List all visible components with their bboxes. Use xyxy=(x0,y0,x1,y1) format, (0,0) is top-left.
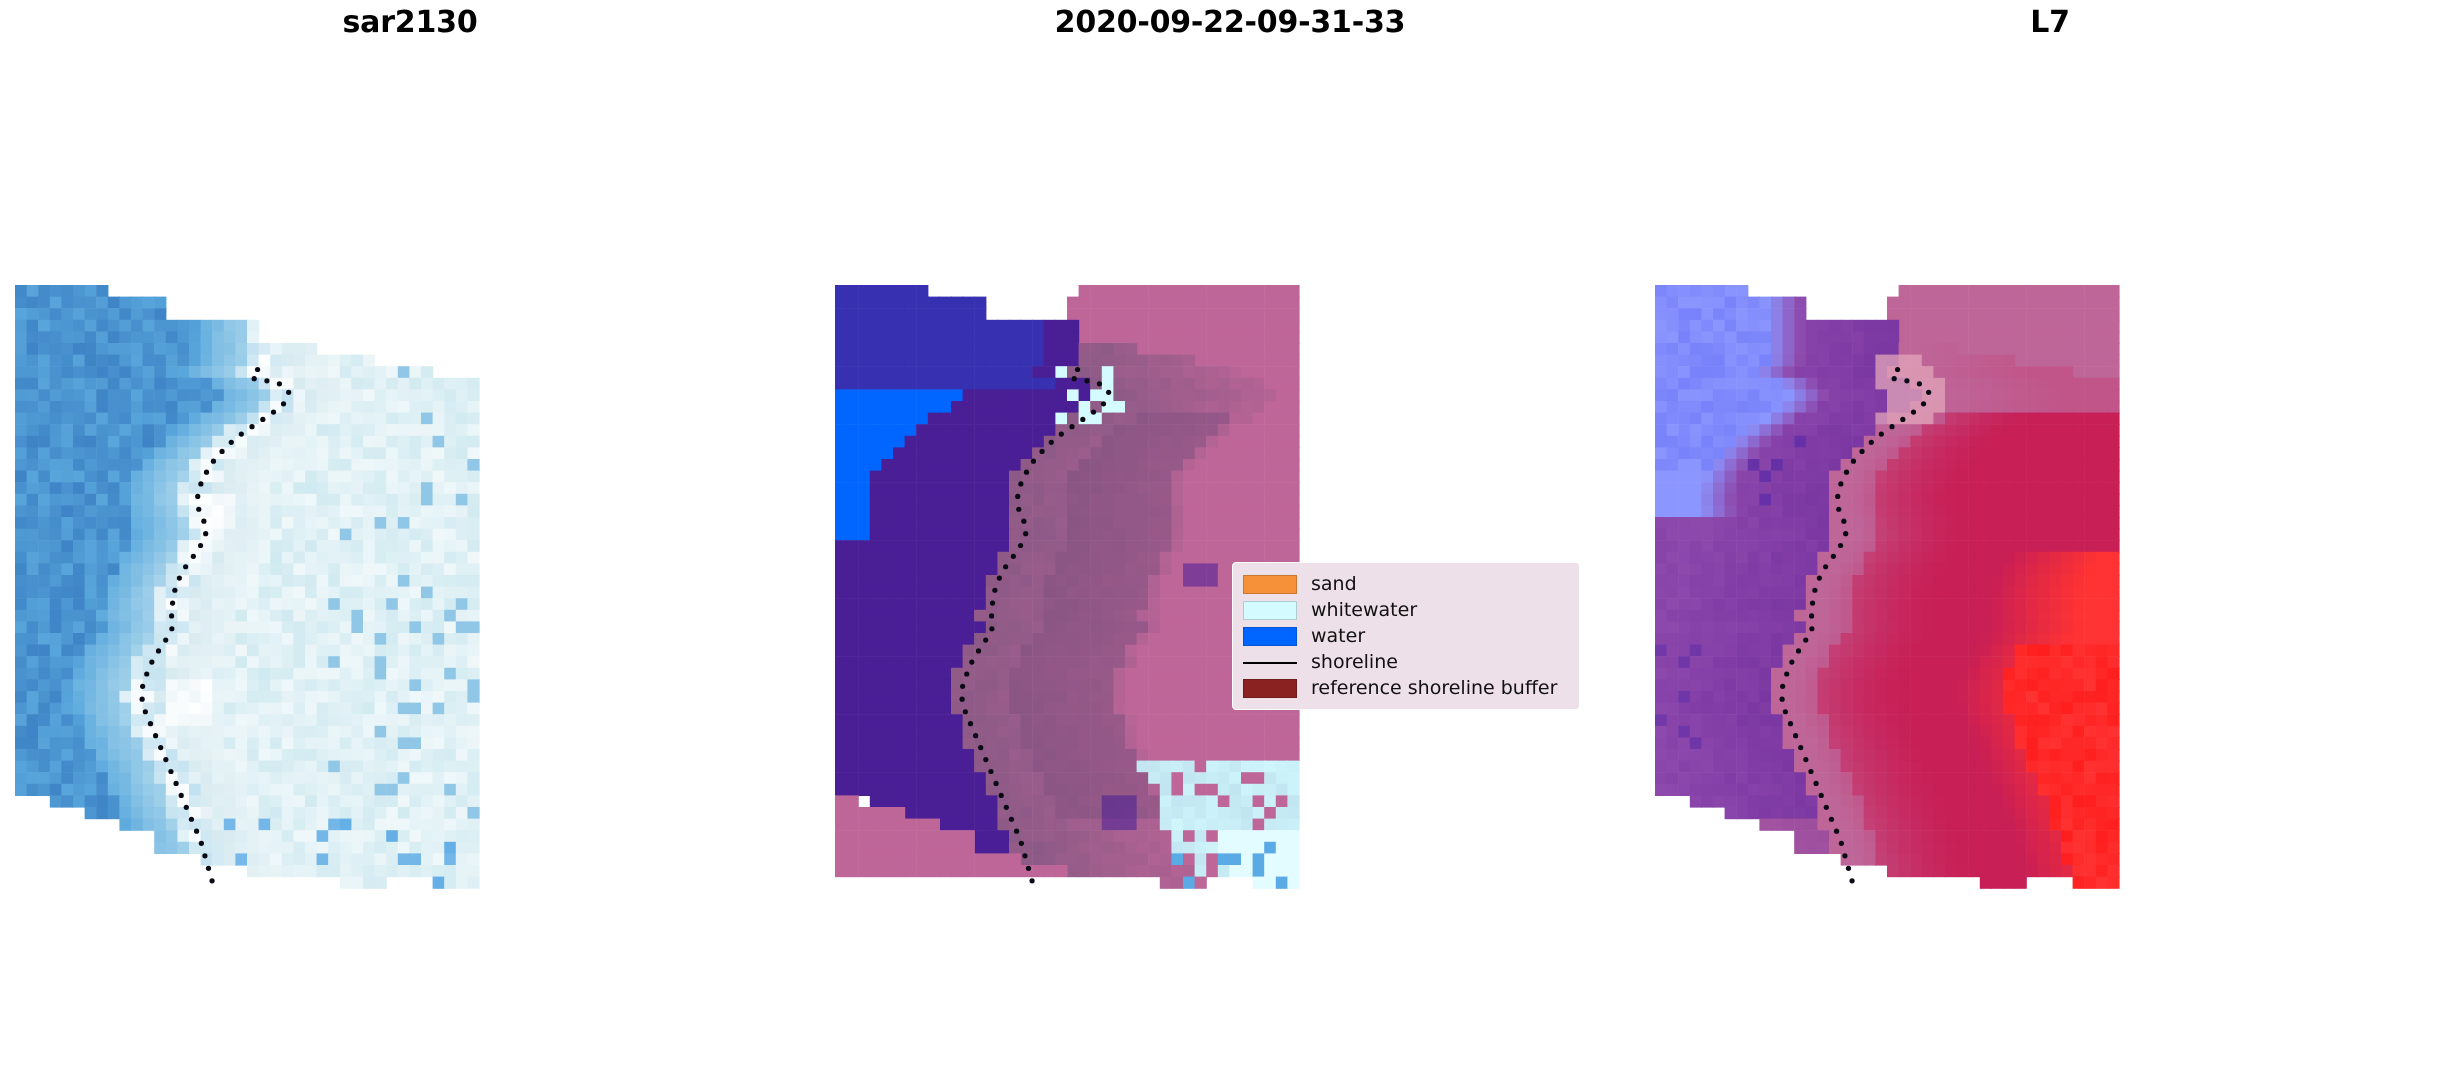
legend-item-sand: sand xyxy=(1243,571,1569,597)
legend-label-whitewater: whitewater xyxy=(1311,599,1417,621)
legend-swatch-water-icon xyxy=(1243,627,1297,646)
panel-l7: L7 xyxy=(1640,0,2460,1069)
legend-item-water: water xyxy=(1243,623,1569,649)
panel-image-sar2130 xyxy=(0,0,820,1069)
panel-image-classification xyxy=(820,0,1640,1069)
panel-sar2130: sar2130 xyxy=(0,0,820,1069)
legend-swatch-reference-buffer-icon xyxy=(1243,679,1297,698)
raster-canvas-classification xyxy=(820,0,1640,1069)
figure-root: sar2130 2020-09-22-09-31-33 L7 sand xyxy=(0,0,2460,1069)
panel-image-l7 xyxy=(1640,0,2460,1069)
legend-item-shoreline: shoreline xyxy=(1243,649,1569,675)
legend-item-whitewater: whitewater xyxy=(1243,597,1569,623)
legend-item-reference-shoreline-buffer: reference shoreline buffer xyxy=(1243,675,1569,701)
raster-canvas-l7 xyxy=(1640,0,2460,1069)
legend-swatch-whitewater-icon xyxy=(1243,601,1297,620)
legend-label-water: water xyxy=(1311,625,1365,647)
legend-swatch-sand-icon xyxy=(1243,575,1297,594)
legend: sand whitewater water shoreline referenc xyxy=(1232,562,1580,710)
legend-label-reference-shoreline-buffer: reference shoreline buffer xyxy=(1311,677,1557,699)
legend-line-shoreline-icon xyxy=(1243,653,1297,672)
raster-canvas-sar2130 xyxy=(0,0,820,1069)
legend-label-shoreline: shoreline xyxy=(1311,651,1398,673)
panel-classification: 2020-09-22-09-31-33 xyxy=(820,0,1640,1069)
legend-label-sand: sand xyxy=(1311,573,1357,595)
